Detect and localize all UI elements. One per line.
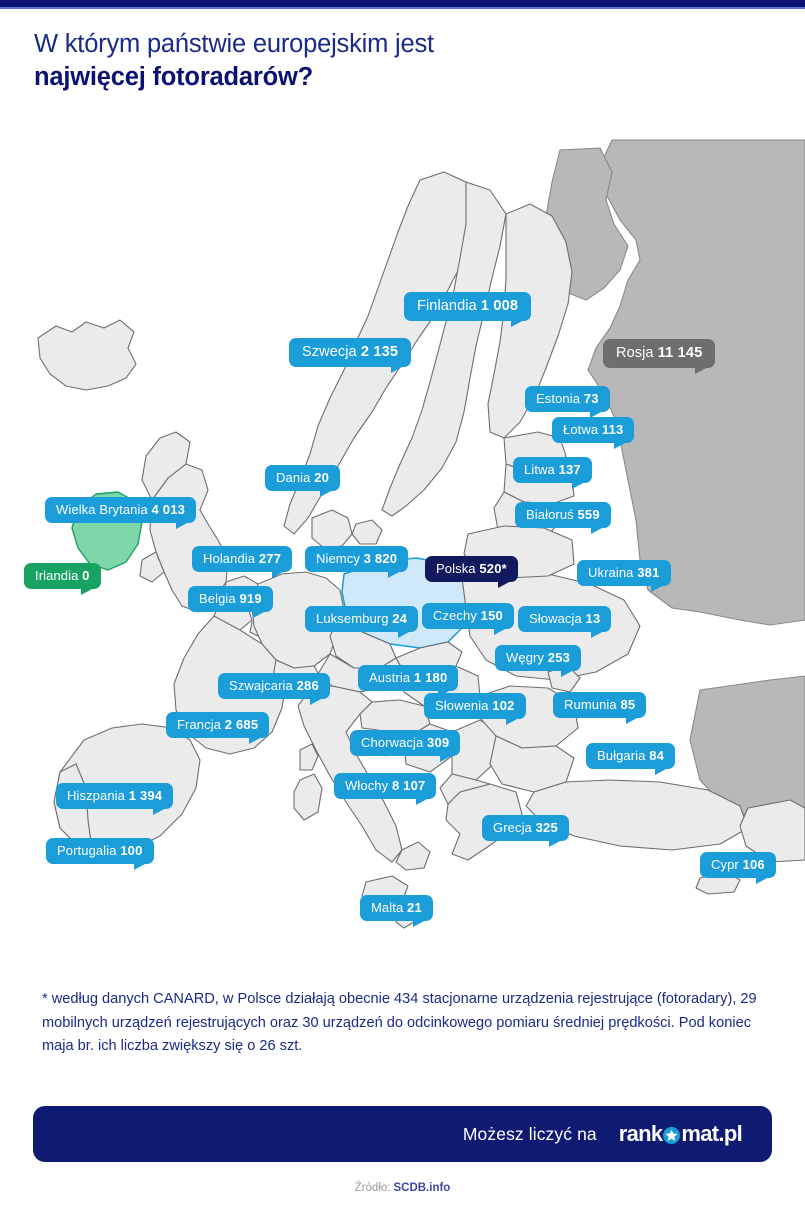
map-label-wegry: Węgry 253 (495, 645, 581, 671)
map-label-malta: Malta 21 (360, 895, 433, 921)
map-label-finlandia: Finlandia 1 008 (404, 292, 531, 321)
label-country: Belgia (199, 591, 239, 606)
label-value: 520* (479, 561, 507, 576)
label-country: Francja (177, 717, 225, 732)
map-label-cypr: Cypr 106 (700, 852, 776, 878)
label-value: 100 (120, 843, 142, 858)
label-value: 277 (259, 551, 281, 566)
map-label-portugalia: Portugalia 100 (46, 838, 154, 864)
source-label: Źródło: (355, 1182, 391, 1194)
label-value: 3 820 (364, 551, 398, 566)
label-value: 85 (620, 697, 635, 712)
label-value: 24 (392, 611, 407, 626)
label-value: 102 (492, 698, 514, 713)
label-country: Białoruś (526, 507, 577, 522)
label-value: 4 013 (152, 502, 186, 517)
label-country: Słowacja (529, 611, 586, 626)
label-value: 150 (481, 608, 503, 623)
label-country: Łotwa (563, 422, 602, 437)
label-country: Irlandia (35, 568, 82, 583)
label-country: Malta (371, 900, 407, 915)
label-country: Bułgaria (597, 748, 649, 763)
country-denmark-isles (352, 520, 382, 544)
map-label-irlandia: Irlandia 0 (24, 563, 101, 589)
map-label-bialorus: Białoruś 559 (515, 502, 611, 528)
label-value: 286 (297, 678, 319, 693)
label-country: Rumunia (564, 697, 620, 712)
map-label-czechy: Czechy 150 (422, 603, 514, 629)
label-value: 137 (559, 462, 581, 477)
logo-text-first: rank (619, 1121, 663, 1147)
map-label-chorwacja: Chorwacja 309 (350, 730, 460, 756)
label-country: Rosja (616, 345, 658, 361)
label-value: 20 (314, 470, 329, 485)
map-label-francja: Francja 2 685 (166, 712, 269, 738)
label-country: Polska (436, 561, 479, 576)
map-label-dania: Dania 20 (265, 465, 340, 491)
label-value: 73 (584, 391, 599, 406)
label-country: Grecja (493, 820, 536, 835)
map-label-estonia: Estonia 73 (525, 386, 610, 412)
europe-map: Finlandia 1 008Szwecja 2 135Rosja 11 145… (0, 120, 805, 950)
label-country: Czechy (433, 608, 481, 623)
label-value: 253 (548, 650, 570, 665)
footnote: * według danych CANARD, w Polsce działaj… (42, 988, 767, 1059)
map-label-ukraina: Ukraina 381 (577, 560, 671, 586)
label-value: 1 180 (414, 670, 448, 685)
map-label-bulgaria: Bułgaria 84 (586, 743, 675, 769)
label-country: Holandia (203, 551, 259, 566)
promo-banner[interactable]: Możesz liczyć na rank mat.pl (33, 1106, 772, 1162)
map-svg (0, 120, 805, 950)
label-value: 84 (649, 748, 664, 763)
map-label-rosja: Rosja 11 145 (603, 339, 715, 368)
map-label-niemcy: Niemcy 3 820 (305, 546, 408, 572)
label-country: Dania (276, 470, 314, 485)
label-value: 919 (239, 591, 261, 606)
label-value: 1 394 (129, 788, 163, 803)
label-country: Portugalia (57, 843, 120, 858)
map-label-lotwa: Łotwa 113 (552, 417, 634, 443)
label-value: 21 (407, 900, 422, 915)
label-value: 381 (637, 565, 659, 580)
country-denmark (312, 510, 352, 548)
top-accent-line (0, 7, 805, 9)
label-value: 13 (586, 611, 601, 626)
map-label-hiszpania: Hiszpania 1 394 (56, 783, 173, 809)
map-label-szwajcaria: Szwajcaria 286 (218, 673, 330, 699)
page-header: W którym państwie europejskim jest najwi… (34, 28, 774, 93)
page-title-line-1: W którym państwie europejskim jest (34, 28, 774, 61)
map-label-slowacja: Słowacja 13 (518, 606, 611, 632)
map-label-austria: Austria 1 180 (358, 665, 458, 691)
label-country: Hiszpania (67, 788, 129, 803)
source-name[interactable]: SCDB.info (393, 1182, 450, 1194)
label-country: Finlandia (417, 298, 481, 314)
star-icon (663, 1127, 680, 1144)
label-value: 0 (82, 568, 89, 583)
label-country: Szwecja (302, 344, 361, 360)
label-country: Wielka Brytania (56, 502, 152, 517)
label-country: Chorwacja (361, 735, 427, 750)
logo-text-second: mat.pl (681, 1121, 742, 1147)
label-value: 113 (602, 422, 624, 437)
top-accent-bar (0, 0, 805, 7)
map-label-wielka-brytania: Wielka Brytania 4 013 (45, 497, 196, 523)
label-country: Cypr (711, 857, 743, 872)
country-iceland (38, 320, 136, 390)
label-value: 106 (743, 857, 765, 872)
label-country: Węgry (506, 650, 548, 665)
map-label-luksemburg: Luksemburg 24 (305, 606, 418, 632)
label-value: 11 145 (658, 345, 703, 361)
map-label-slowenia: Słowenia 102 (424, 693, 526, 719)
label-country: Litwa (524, 462, 559, 477)
rankomat-logo[interactable]: rank mat.pl (619, 1121, 742, 1147)
label-country: Austria (369, 670, 414, 685)
label-country: Szwajcaria (229, 678, 297, 693)
label-value: 2 135 (361, 344, 398, 360)
label-value: 8 107 (392, 778, 426, 793)
label-value: 2 685 (225, 717, 259, 732)
map-label-grecja: Grecja 325 (482, 815, 569, 841)
map-label-rumunia: Rumunia 85 (553, 692, 646, 718)
page-title-line-2: najwięcej fotoradarów? (34, 61, 774, 94)
country-russia (588, 140, 805, 625)
label-value: 325 (536, 820, 558, 835)
label-country: Słowenia (435, 698, 492, 713)
map-label-litwa: Litwa 137 (513, 457, 592, 483)
map-label-holandia: Holandia 277 (192, 546, 292, 572)
label-value: 559 (577, 507, 599, 522)
map-label-szwecja: Szwecja 2 135 (289, 338, 411, 367)
map-label-belgia: Belgia 919 (188, 586, 273, 612)
label-country: Estonia (536, 391, 584, 406)
source-line: Źródło:SCDB.info (0, 1182, 805, 1194)
label-value: 309 (427, 735, 449, 750)
country-sardinia (294, 774, 322, 820)
map-label-wlochy: Włochy 8 107 (334, 773, 436, 799)
banner-tagline: Możesz liczyć na (463, 1124, 597, 1145)
label-country: Włochy (345, 778, 392, 793)
label-value: 1 008 (481, 298, 518, 314)
label-country: Niemcy (316, 551, 364, 566)
label-country: Ukraina (588, 565, 637, 580)
map-label-polska: Polska 520* (425, 556, 518, 582)
label-country: Luksemburg (316, 611, 392, 626)
